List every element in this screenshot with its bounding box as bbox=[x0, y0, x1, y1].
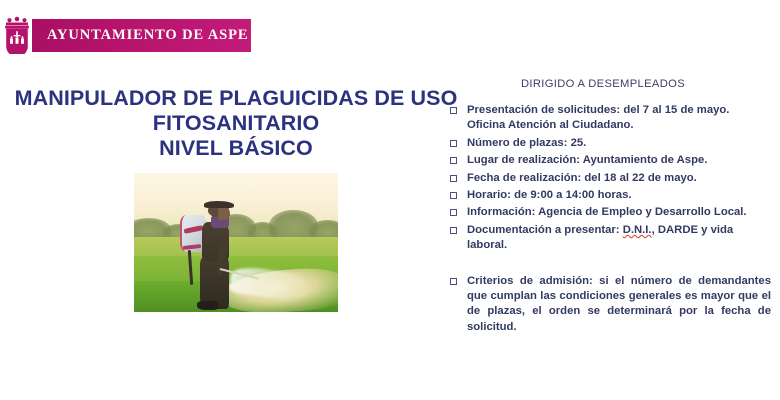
list-item-label: Horario: de 9:00 a 14:00 horas. bbox=[467, 189, 632, 201]
list-item-label: Presentación de solicitudes: del 7 al 15… bbox=[467, 104, 729, 116]
list-item-subline: Oficina Atención al Ciudadano. bbox=[467, 118, 775, 133]
brand-header: AYUNTAMIENTO DE ASPE bbox=[0, 16, 260, 54]
organization-name: AYUNTAMIENTO DE ASPE bbox=[32, 27, 248, 44]
documentation-label: Documentación a presentar: bbox=[467, 224, 623, 236]
hollow-square-bullet-icon bbox=[450, 278, 457, 285]
hollow-square-bullet-icon bbox=[450, 140, 457, 147]
course-photo bbox=[134, 173, 338, 312]
hollow-square-bullet-icon bbox=[450, 157, 457, 164]
course-title-block: MANIPULADOR DE PLAGUICIDAS DE USO FITOSA… bbox=[8, 86, 464, 161]
list-item: Información: Agencia de Empleo y Desarro… bbox=[449, 205, 775, 220]
details-list: Presentación de solicitudes: del 7 al 15… bbox=[449, 103, 775, 254]
list-item-documentation: Documentación a presentar: D.N.I., DARDE… bbox=[449, 223, 775, 254]
farmer-spraying-field-photo bbox=[134, 173, 338, 312]
hollow-square-bullet-icon bbox=[450, 209, 457, 216]
hollow-square-bullet-icon bbox=[450, 107, 457, 114]
spellcheck-flagged-term: D.N.I. bbox=[623, 224, 652, 236]
hollow-square-bullet-icon bbox=[450, 192, 457, 199]
list-item-label: Fecha de realización: del 18 al 22 de ma… bbox=[467, 172, 697, 184]
list-item: Número de plazas: 25. bbox=[449, 136, 775, 151]
title-line-3: NIVEL BÁSICO bbox=[8, 136, 464, 161]
poster-canvas: AYUNTAMIENTO DE ASPE MANIPULADOR DE PLAG… bbox=[0, 0, 780, 400]
organization-band: AYUNTAMIENTO DE ASPE bbox=[32, 19, 251, 52]
admission-criteria: Criterios de admisión: si el número de d… bbox=[449, 274, 775, 336]
details-panel: DIRIGIDO A DESEMPLEADOS Presentación de … bbox=[449, 78, 775, 335]
list-item-label: Lugar de realización: Ayuntamiento de As… bbox=[467, 154, 707, 166]
list-item-label: Número de plazas: 25. bbox=[467, 137, 586, 149]
hollow-square-bullet-icon bbox=[450, 175, 457, 182]
photo-farmer-figure bbox=[179, 201, 248, 309]
list-item: Presentación de solicitudes: del 7 al 15… bbox=[449, 103, 775, 134]
list-item: Fecha de realización: del 18 al 22 de ma… bbox=[449, 171, 775, 186]
list-item-label: Información: Agencia de Empleo y Desarro… bbox=[467, 206, 747, 218]
title-line-2: FITOSANITARIO bbox=[8, 111, 464, 136]
audience-heading: DIRIGIDO A DESEMPLEADOS bbox=[449, 78, 775, 90]
admission-criteria-text: Criterios de admisión: si el número de d… bbox=[467, 275, 771, 333]
list-item: Lugar de realización: Ayuntamiento de As… bbox=[449, 153, 775, 168]
coat-of-arms-icon bbox=[2, 16, 32, 54]
hollow-square-bullet-icon bbox=[450, 227, 457, 234]
title-line-1: MANIPULADOR DE PLAGUICIDAS DE USO bbox=[8, 86, 464, 111]
page-title: MANIPULADOR DE PLAGUICIDAS DE USO FITOSA… bbox=[8, 86, 464, 161]
list-item: Horario: de 9:00 a 14:00 horas. bbox=[449, 188, 775, 203]
